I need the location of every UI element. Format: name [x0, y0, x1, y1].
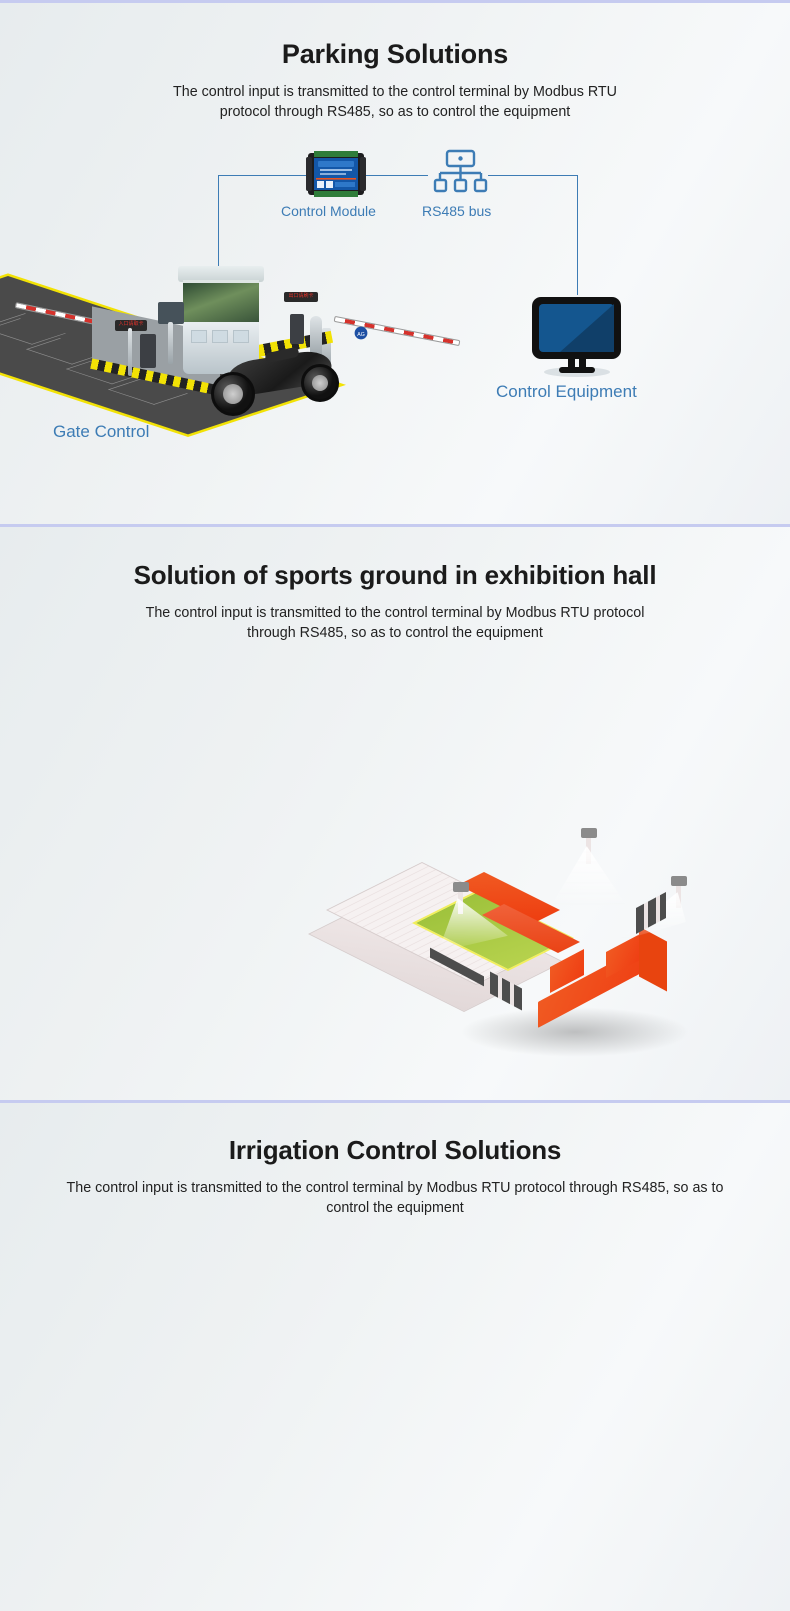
- page-root: Parking Solutions The control input is t…: [0, 0, 790, 1611]
- stadium-illustration: [400, 822, 740, 1072]
- car-illustration: [205, 346, 350, 416]
- subtitle-parking: The control input is transmitted to the …: [155, 82, 635, 123]
- control-module-device[interactable]: [306, 149, 366, 204]
- connector-line: [488, 175, 578, 176]
- section-irrigation: Irrigation Control Solutions The control…: [0, 1100, 790, 1611]
- rs485-bus-label: RS485 bus: [422, 204, 491, 220]
- barrier-badge-icon: AG: [354, 326, 368, 345]
- barrier-arm-right: [334, 316, 461, 346]
- page-title-parking: Parking Solutions: [0, 3, 790, 70]
- camera-pole: [168, 322, 173, 364]
- sign-pole: [128, 328, 132, 376]
- subtitle-exhibition: The control input is transmitted to the …: [125, 603, 665, 644]
- gate-control-label: Gate Control: [53, 422, 149, 441]
- page-title-irrigation: Irrigation Control Solutions: [0, 1103, 790, 1166]
- monitor-icon[interactable]: [530, 295, 623, 382]
- page-title-exhibition: Solution of sports ground in exhibition …: [0, 527, 790, 591]
- control-equipment-label: Control Equipment: [496, 382, 637, 401]
- network-bus-icon[interactable]: [433, 149, 488, 200]
- led-sign-right: 出口请刷卡: [284, 292, 318, 302]
- subtitle-irrigation: The control input is transmitted to the …: [65, 1178, 725, 1219]
- section-parking: Parking Solutions The control input is t…: [0, 0, 790, 524]
- camera-housing: [158, 302, 184, 324]
- ticket-kiosk-right: [290, 314, 304, 344]
- svg-text:AG: AG: [357, 332, 365, 338]
- connector-line: [577, 175, 578, 295]
- section-exhibition: Solution of sports ground in exhibition …: [0, 524, 790, 1100]
- control-module-label: Control Module: [281, 204, 376, 220]
- ticket-kiosk-left: [140, 334, 156, 368]
